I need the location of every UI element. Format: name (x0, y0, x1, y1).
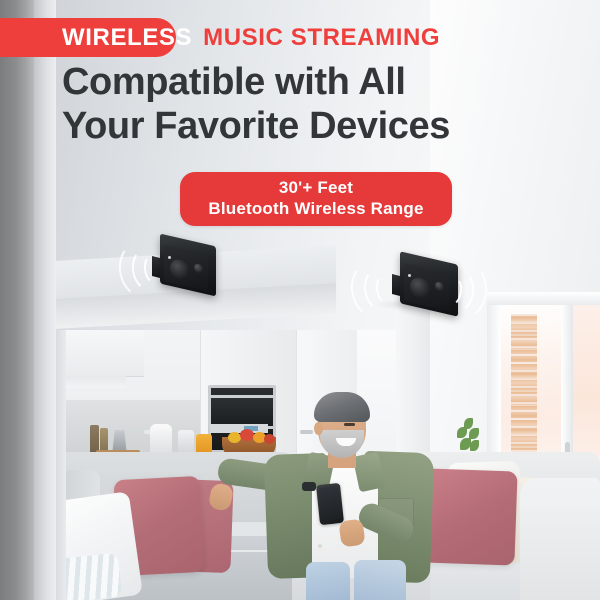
tagline-highlight-word: WIRELESS (62, 24, 192, 52)
promo-banner: WIRELESS MUSIC STREAMING Compatible with… (0, 0, 600, 600)
range-badge-line-1: 30'+ Feet (279, 178, 353, 199)
headline-line-2: Your Favorite Devices (62, 104, 532, 148)
right-speaker-led (408, 274, 411, 277)
headline-line-1: Compatible with All (62, 60, 532, 104)
left-wall-light-edge (34, 0, 56, 600)
smartphone[interactable] (316, 483, 344, 525)
wireless-tagline: WIRELESS MUSIC STREAMING (0, 18, 440, 57)
tagline-rest-text: MUSIC STREAMING (203, 24, 440, 52)
upper-cabinet (56, 330, 144, 377)
fruit-item (240, 429, 254, 441)
upper-cabinet-underside (56, 376, 126, 388)
person-jeans-left-leg (306, 562, 350, 600)
range-badge-line-2: Bluetooth Wireless Range (208, 199, 423, 220)
wristwatch (302, 482, 316, 491)
left-wall-dark-edge (0, 0, 34, 600)
person-eye (344, 423, 355, 426)
right-speaker-sound-waves-right (438, 260, 492, 318)
left-wall-speaker (118, 236, 238, 300)
range-badge: 30'+ Feet Bluetooth Wireless Range (180, 172, 452, 226)
sofa-arm-right (520, 478, 600, 600)
person-right-hand (338, 518, 365, 547)
person-on-sofa (262, 392, 450, 600)
person-jeans-right-leg (354, 560, 406, 600)
person-ear (314, 422, 323, 435)
person-hair (314, 392, 370, 422)
shirt-button (318, 544, 322, 548)
page-title: Compatible with All Your Favorite Device… (62, 60, 532, 149)
left-speaker-led (168, 256, 171, 259)
right-wall-speaker (340, 252, 488, 322)
window-head-frame (487, 292, 600, 305)
